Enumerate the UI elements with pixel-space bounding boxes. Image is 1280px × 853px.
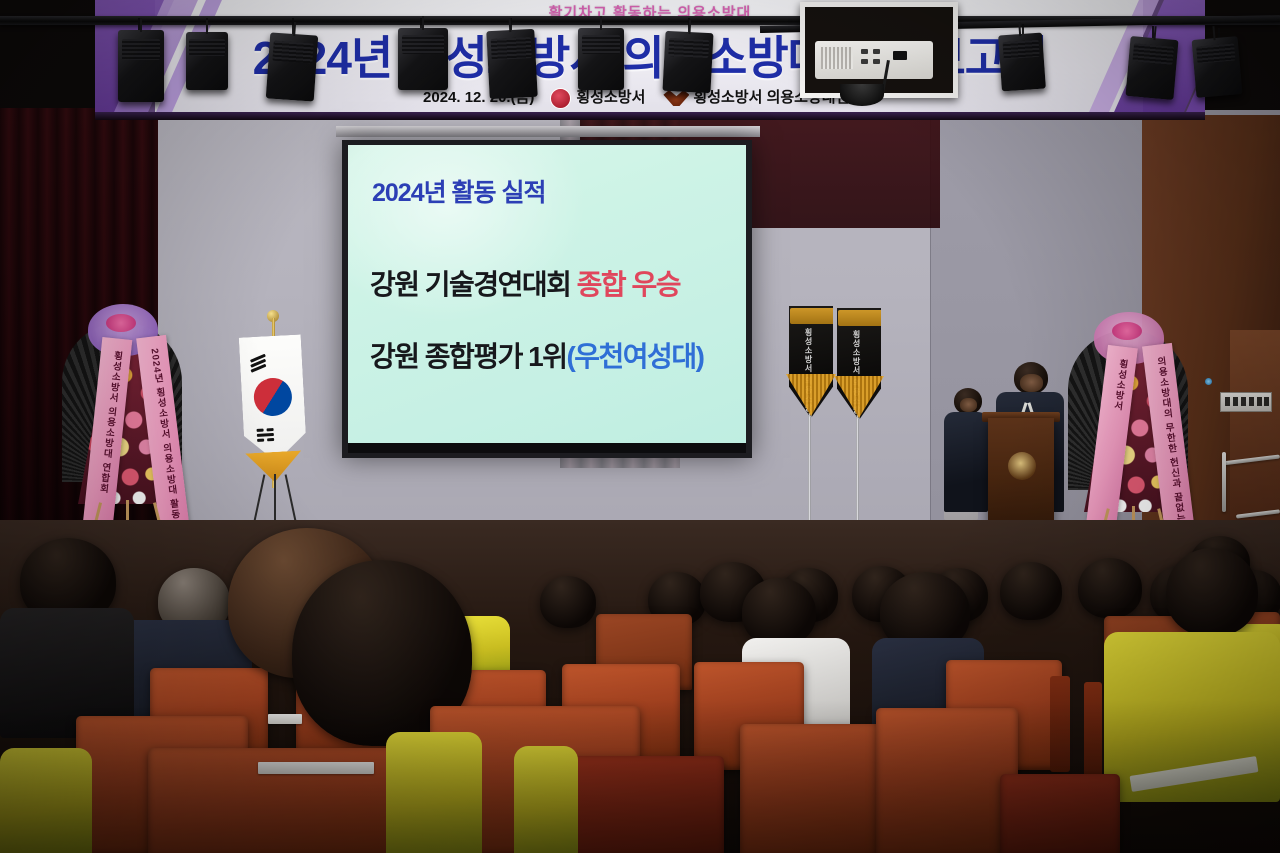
seated-guest	[944, 388, 988, 528]
volunteer-corps-emblem-icon	[663, 90, 689, 106]
seat	[876, 708, 1018, 853]
projector-body	[815, 41, 933, 79]
podium-seal-icon	[1008, 452, 1036, 480]
seat	[560, 756, 724, 853]
audience-hiviz-jacket	[386, 732, 482, 853]
fire-department-emblem-icon	[550, 88, 571, 109]
ceremonial-flag-gold-top	[838, 310, 886, 326]
seat-name-tag	[268, 714, 302, 724]
flower-wreath-right: 횡성소방서 의용소방대의 무한한 헌신과 끝없는 노고에 감사드립니다	[1068, 300, 1200, 545]
seat-name-tag	[258, 762, 374, 774]
banner-bottom-edge	[95, 112, 1205, 120]
podium	[988, 418, 1054, 536]
audience-head	[1078, 558, 1142, 618]
slide-line-2: 강원 종합평가 1위(우천여성대)	[370, 335, 703, 375]
banner-org-primary: 횡성소방서	[576, 89, 645, 106]
audience-head	[1000, 562, 1062, 620]
handrail-post	[1222, 452, 1226, 512]
ceremonial-flag-pole	[808, 408, 811, 536]
flower-wreath-left: 횡성소방서 의용소방대 연합회 2024년 횡성소방서 의용소방대 활동보고회	[62, 292, 194, 542]
wall-control-panel	[1220, 392, 1272, 412]
stage-light-2	[186, 32, 228, 90]
audience-head	[742, 578, 816, 646]
wreath-bow-knot	[106, 314, 136, 332]
slide-line-2-highlight: (우천여성대)	[566, 341, 703, 372]
audience-area	[0, 520, 1280, 853]
slide-line-1-highlight: 종합 우승	[577, 269, 680, 300]
slide-line-1-plain: 강원 기술경연대회	[370, 269, 577, 300]
slide-line-1: 강원 기술경연대회 종합 우승	[370, 263, 680, 303]
taeguk-symbol	[246, 370, 299, 423]
seat-armrest	[1084, 682, 1102, 782]
ceremonial-flag-pole	[856, 410, 859, 538]
seat	[1000, 774, 1120, 853]
audience-hiviz-jacket	[514, 746, 578, 853]
stage-light-4	[398, 28, 448, 90]
audience-hiviz-jacket	[0, 748, 92, 853]
stage-light-10	[1192, 36, 1243, 98]
stage-light-1	[118, 30, 164, 102]
seat	[740, 724, 886, 853]
projection-screen: 2024년 활동 실적 강원 기술경연대회 종합 우승 강원 종합평가 1위(우…	[348, 145, 746, 443]
screen-roller-housing	[336, 126, 760, 137]
banner-subline: 2024. 12. 20.(금)횡성소방서횡성소방서 의용소방대연합회	[95, 86, 1205, 107]
projection-screen-frame: 2024년 활동 실적 강원 기술경연대회 종합 우승 강원 종합평가 1위(우…	[342, 140, 752, 458]
speaker-face	[1020, 374, 1043, 392]
indicator-light	[1205, 378, 1212, 385]
seated-guest-face	[960, 398, 977, 412]
screen-bottom-bar	[348, 443, 746, 453]
stage-light-6	[578, 28, 624, 90]
seat-armrest	[1050, 676, 1070, 772]
wreath-bow-knot	[1112, 322, 1142, 340]
projector-vent	[821, 47, 853, 69]
seated-guest-body	[944, 412, 988, 512]
flag-stand	[258, 470, 292, 526]
audience-head	[1166, 548, 1258, 636]
stage-light-8	[998, 33, 1046, 92]
stage-light-3	[266, 32, 318, 101]
audience-head	[540, 576, 596, 628]
projector-lens	[840, 84, 884, 106]
ceremonial-flag-gold-top	[790, 308, 838, 324]
stage-light-7	[662, 31, 713, 93]
slide-title: 2024년 활동 실적	[372, 173, 546, 209]
stage-light-5	[486, 29, 537, 99]
photo-scene: 활기차고 활동하는 의용소방대 2024년 횡성소방서 의용소방대 활동보고회 …	[0, 0, 1280, 853]
slide-line-2-plain: 강원 종합평가 1위	[370, 341, 566, 372]
stage-light-9	[1125, 36, 1178, 100]
